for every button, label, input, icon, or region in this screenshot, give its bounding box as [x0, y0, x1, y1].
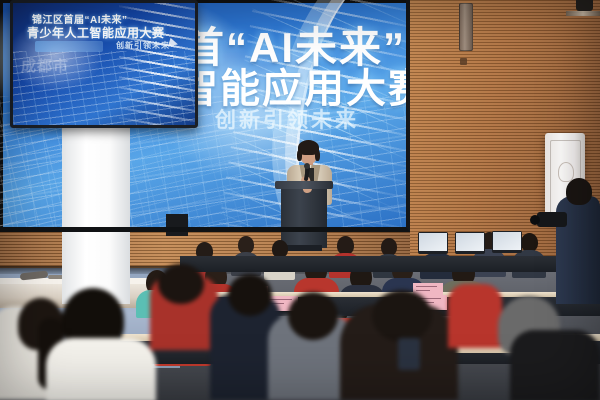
fg-head [288, 292, 338, 340]
fg-person-cream-coat [46, 338, 156, 400]
videographer-head [566, 178, 592, 205]
fg-head [158, 264, 204, 304]
podium-base [286, 245, 322, 251]
wall-vent-icon [459, 3, 473, 51]
tv-subtitle: 创新引领未来 [116, 40, 170, 51]
foreground-audience [0, 300, 600, 400]
desk-row-far [180, 256, 600, 272]
wall-plate-icon [460, 58, 467, 65]
tv-banner-chip [35, 41, 103, 52]
ledge-equipment-box [166, 214, 188, 236]
tv-line2: 青少年人工智能应用大赛 [27, 24, 165, 41]
conference-photo-scene: 首“AI未来” 智能应用大赛 创新引领未来 锦江区首届“AI未来” 青少年人工智… [0, 0, 600, 400]
presenter-hair-side-left [297, 150, 302, 161]
video-camera-icon [537, 212, 567, 227]
ceiling-light-bar-icon [566, 11, 600, 16]
fg-person-black [510, 330, 600, 400]
screen-subtitle: 创新引领未来 [215, 104, 359, 134]
tv-light-streaks [119, 0, 198, 128]
wall-mounted-tv: 锦江区首届“AI未来” 青少年人工智能应用大赛 创新引领未来 成都市 [10, 0, 198, 128]
ceiling-fixture-icon [576, 0, 593, 11]
fg-head [372, 290, 432, 342]
desk-monitor [418, 232, 448, 254]
fg-person-red-2 [448, 284, 502, 348]
fg-head [228, 274, 272, 316]
microphone-head-icon [304, 163, 310, 169]
desk-monitor [455, 232, 485, 254]
podium [281, 186, 327, 248]
podium-top [275, 181, 333, 189]
camera-lens-icon [530, 215, 540, 225]
presenter-hair-side-right [315, 150, 320, 161]
tv-ghost-text: 成都市 [21, 55, 69, 76]
desk-monitor [492, 231, 522, 253]
fg-phone-icon [398, 338, 420, 370]
tv-support-column [62, 118, 130, 304]
